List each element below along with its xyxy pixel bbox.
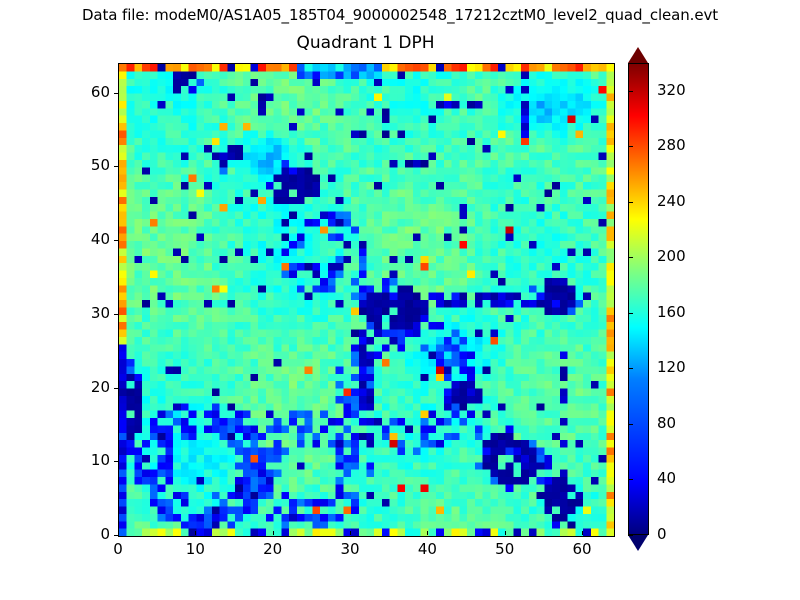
colorbar-extend-max-arrow bbox=[628, 47, 648, 63]
colorbar-tick-label: 0 bbox=[657, 525, 667, 543]
x-tickmark bbox=[582, 531, 583, 535]
y-tickmark bbox=[114, 240, 118, 241]
x-tickmark bbox=[427, 531, 428, 535]
y-tick-label: 10 bbox=[58, 451, 110, 469]
x-tick-label: 30 bbox=[320, 540, 380, 558]
y-tickmark bbox=[114, 314, 118, 315]
x-tick-label: 40 bbox=[397, 540, 457, 558]
x-tickmark bbox=[505, 531, 506, 535]
colorbar-tickmark bbox=[628, 479, 633, 480]
y-tick-label: 0 bbox=[58, 525, 110, 543]
colorbar-tickmark bbox=[628, 368, 633, 369]
detector-heatmap-image[interactable] bbox=[119, 64, 614, 536]
x-tick-label: 60 bbox=[552, 540, 612, 558]
y-tick-label: 20 bbox=[58, 378, 110, 396]
y-tick-label: 60 bbox=[58, 83, 110, 101]
colorbar-tick-label: 320 bbox=[657, 81, 686, 99]
colorbar-tickmark bbox=[628, 91, 633, 92]
y-tickmark bbox=[114, 535, 118, 536]
y-tick-label: 40 bbox=[58, 230, 110, 248]
y-tickmark bbox=[114, 166, 118, 167]
y-tick-label: 50 bbox=[58, 156, 110, 174]
colorbar-tick-label: 280 bbox=[657, 136, 686, 154]
x-tick-label: 10 bbox=[165, 540, 225, 558]
colorbar-tick-label: 80 bbox=[657, 414, 676, 432]
x-tickmark bbox=[195, 531, 196, 535]
colorbar-tickmark bbox=[628, 535, 633, 536]
x-tickmark bbox=[118, 531, 119, 535]
y-tickmark bbox=[114, 461, 118, 462]
colorbar-tickmark bbox=[628, 257, 633, 258]
figure-suptitle: Data file: modeM0/AS1A05_185T04_90000025… bbox=[0, 6, 800, 24]
colorbar-tick-label: 160 bbox=[657, 303, 686, 321]
y-tick-label: 30 bbox=[58, 304, 110, 322]
page-title: Quadrant 1 DPH bbox=[118, 33, 613, 53]
colorbar-tick-label: 200 bbox=[657, 247, 686, 265]
matplotlib-figure: Data file: modeM0/AS1A05_185T04_90000025… bbox=[0, 0, 800, 600]
colorbar[interactable] bbox=[628, 57, 651, 541]
colorbar-tickmark bbox=[628, 202, 633, 203]
x-tickmark bbox=[350, 531, 351, 535]
x-tick-label: 50 bbox=[475, 540, 535, 558]
colorbar-tickmark bbox=[628, 313, 633, 314]
y-tickmark bbox=[114, 93, 118, 94]
heatmap-axes[interactable] bbox=[118, 63, 615, 537]
colorbar-tickmark bbox=[628, 146, 633, 147]
colorbar-tick-label: 240 bbox=[657, 192, 686, 210]
x-tickmark bbox=[273, 531, 274, 535]
colorbar-tick-label: 120 bbox=[657, 358, 686, 376]
y-tickmark bbox=[114, 388, 118, 389]
x-tick-label: 20 bbox=[243, 540, 303, 558]
colorbar-tickmark bbox=[628, 424, 633, 425]
colorbar-tick-label: 40 bbox=[657, 469, 676, 487]
colorbar-gradient[interactable] bbox=[628, 63, 649, 535]
colorbar-extend-min-arrow bbox=[628, 535, 648, 551]
